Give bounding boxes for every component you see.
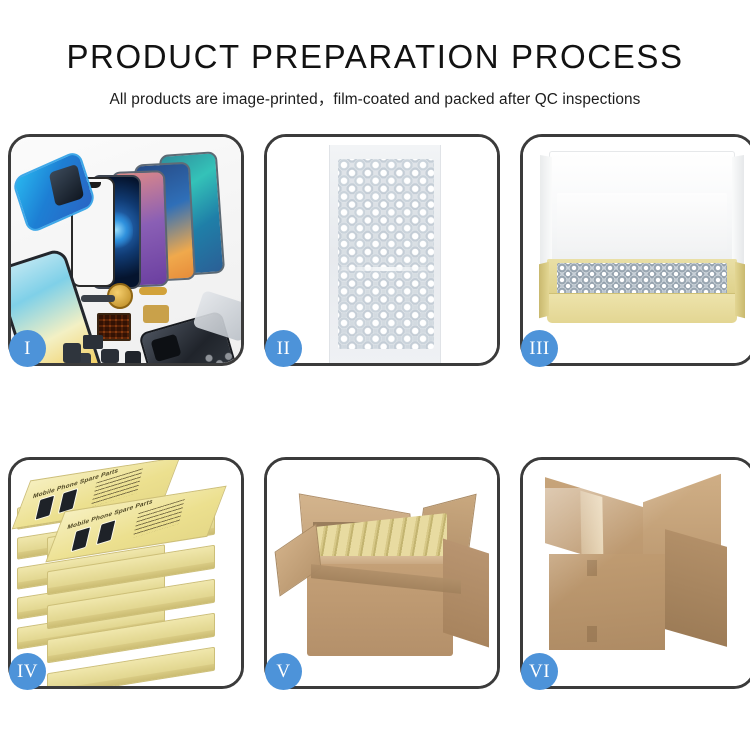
wrapped-item-icon xyxy=(557,263,727,297)
bubble-pouch-icon xyxy=(329,145,441,363)
bubble-wrap-illustration xyxy=(267,137,497,363)
bubble-texture-icon xyxy=(338,159,434,349)
step-panel-2: II xyxy=(264,134,500,366)
step-badge-1: I xyxy=(9,330,46,367)
flex-cable-icon xyxy=(81,295,115,302)
screws-icon xyxy=(203,351,233,363)
camera-flex-icon xyxy=(143,305,169,323)
carton-seam-icon xyxy=(587,626,597,642)
step-6-image xyxy=(523,460,750,686)
step-4-image: Mobile Phone Spare Parts Mobile Phone Sp… xyxy=(11,460,241,686)
step-badge-6: VI xyxy=(521,653,558,690)
box-stack: Mobile Phone Spare Parts Mobile Phone Sp… xyxy=(11,460,241,686)
header: PRODUCT PREPARATION PROCESS All products… xyxy=(0,0,750,109)
connector-part-icon xyxy=(83,335,103,349)
step-panel-6: VI xyxy=(520,457,750,689)
vibrator-part-icon xyxy=(101,349,119,363)
step-panel-3: III xyxy=(520,134,750,366)
carton-seam-icon xyxy=(587,560,597,576)
phones-and-parts-illustration xyxy=(11,137,241,363)
box-tray-front-icon xyxy=(547,293,737,323)
page-title: PRODUCT PREPARATION PROCESS xyxy=(0,0,750,73)
step-3-image xyxy=(523,137,750,363)
retail-box-stack-illustration: Mobile Phone Spare Parts Mobile Phone Sp… xyxy=(11,460,241,686)
sealed-carton-illustration xyxy=(523,460,750,686)
step-badge-5: V xyxy=(265,653,302,690)
carton-side-icon xyxy=(443,539,489,648)
foam-sheet-icon xyxy=(557,193,727,251)
product-preparation-infographic: PRODUCT PREPARATION PROCESS All products… xyxy=(0,0,750,750)
step-panel-1: I xyxy=(8,134,244,366)
step-panel-4: Mobile Phone Spare Parts Mobile Phone Sp… xyxy=(8,457,244,689)
box-product-thumbnail-icon xyxy=(96,519,117,545)
box-tray-left-edge-icon xyxy=(539,262,549,318)
box-product-thumbnail-icon xyxy=(70,526,91,552)
carton-front-icon xyxy=(549,554,665,650)
step-badge-3: III xyxy=(521,330,558,367)
step-badge-4: IV xyxy=(9,653,46,690)
step-badge-2: II xyxy=(265,330,302,367)
battery-connector-icon xyxy=(63,343,81,363)
page-subtitle: All products are image-printed，film-coat… xyxy=(0,73,750,109)
button-flex-icon xyxy=(139,287,167,295)
inner-box-illustration xyxy=(523,137,750,363)
step-2-image xyxy=(267,137,497,363)
carton-side-icon xyxy=(665,529,727,647)
step-panel-5: V xyxy=(264,457,500,689)
box-tray-right-edge-icon xyxy=(735,262,745,318)
steps-grid: I II xyxy=(0,132,750,732)
pouch-seam-icon xyxy=(338,267,434,271)
camera-module-icon xyxy=(125,351,141,363)
open-carton-illustration xyxy=(267,460,497,686)
step-5-image xyxy=(267,460,497,686)
step-1-image xyxy=(11,137,241,363)
